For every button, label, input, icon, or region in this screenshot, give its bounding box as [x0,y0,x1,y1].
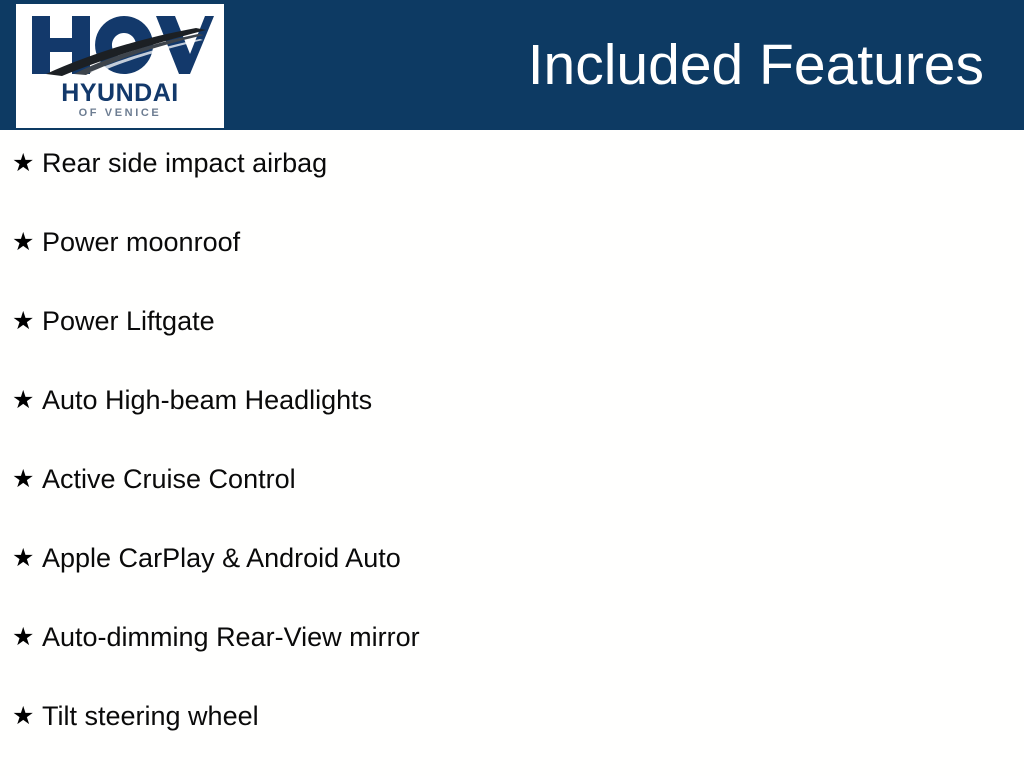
feature-label: Apple CarPlay & Android Auto [42,539,401,577]
included-features-list: ★Rear side impact airbag★Power moonroof★… [0,144,1024,776]
feature-list-item: ★Rear side impact airbag [0,144,1024,223]
feature-label: Power moonroof [42,223,240,261]
star-bullet-icon: ★ [12,539,42,577]
star-bullet-icon: ★ [12,697,42,735]
star-bullet-icon: ★ [12,618,42,656]
star-bullet-icon: ★ [12,302,42,340]
feature-list-item: ★Tilt steering wheel [0,697,1024,776]
feature-label: Rear side impact airbag [42,144,327,182]
star-bullet-icon: ★ [12,223,42,261]
star-bullet-icon: ★ [12,381,42,419]
feature-list-item: ★Active Cruise Control [0,460,1024,539]
feature-list-item: ★Apple CarPlay & Android Auto [0,539,1024,618]
feature-list-item: ★Auto-dimming Rear-View mirror [0,618,1024,697]
feature-list-item: ★Power moonroof [0,223,1024,302]
star-bullet-icon: ★ [12,144,42,182]
feature-label: Auto High-beam Headlights [42,381,372,419]
page-title: Included Features [184,28,984,102]
feature-list-item: ★Power Liftgate [0,302,1024,381]
feature-label: Power Liftgate [42,302,215,340]
feature-label: Tilt steering wheel [42,697,259,735]
feature-list-item: ★Auto High-beam Headlights [0,381,1024,460]
star-bullet-icon: ★ [12,460,42,498]
dealer-logo-location: OF VENICE [16,107,224,119]
feature-label: Auto-dimming Rear-View mirror [42,618,420,656]
feature-label: Active Cruise Control [42,460,296,498]
feature-slide: HYUNDAI OF VENICE Included Features ★Rea… [0,0,1024,768]
